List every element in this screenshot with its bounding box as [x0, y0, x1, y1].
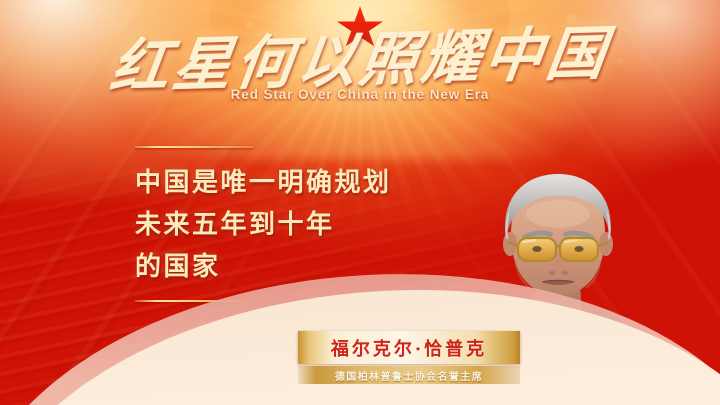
poster-title-cn: 红星何以照耀中国 [107, 23, 613, 98]
speaker-title-bar: 德国柏林普鲁士协会名誉主席 [298, 366, 520, 384]
bokeh-dot [402, 6, 411, 13]
speaker-name-bar: 福尔克尔·恰普克 [298, 331, 520, 364]
quote-rule-top [135, 146, 253, 148]
quote-text: 中国是唯一明确规划 未来五年到十年 的国家 [135, 162, 465, 288]
poster-canvas: 红星何以照耀中国 Red Star Over China in the New … [0, 0, 720, 405]
title-block: 红星何以照耀中国 Red Star Over China in the New … [0, 30, 720, 102]
quote-line-2: 未来五年到十年 [135, 204, 465, 246]
speaker-nameplate: 福尔克尔·恰普克 德国柏林普鲁士协会名誉主席 [298, 331, 520, 384]
speaker-name: 福尔克尔·恰普克 [331, 335, 487, 361]
speaker-title: 德国柏林普鲁士协会名誉主席 [335, 368, 483, 383]
bokeh-dot [246, 22, 253, 28]
quote-line-1: 中国是唯一明确规划 [135, 162, 465, 204]
